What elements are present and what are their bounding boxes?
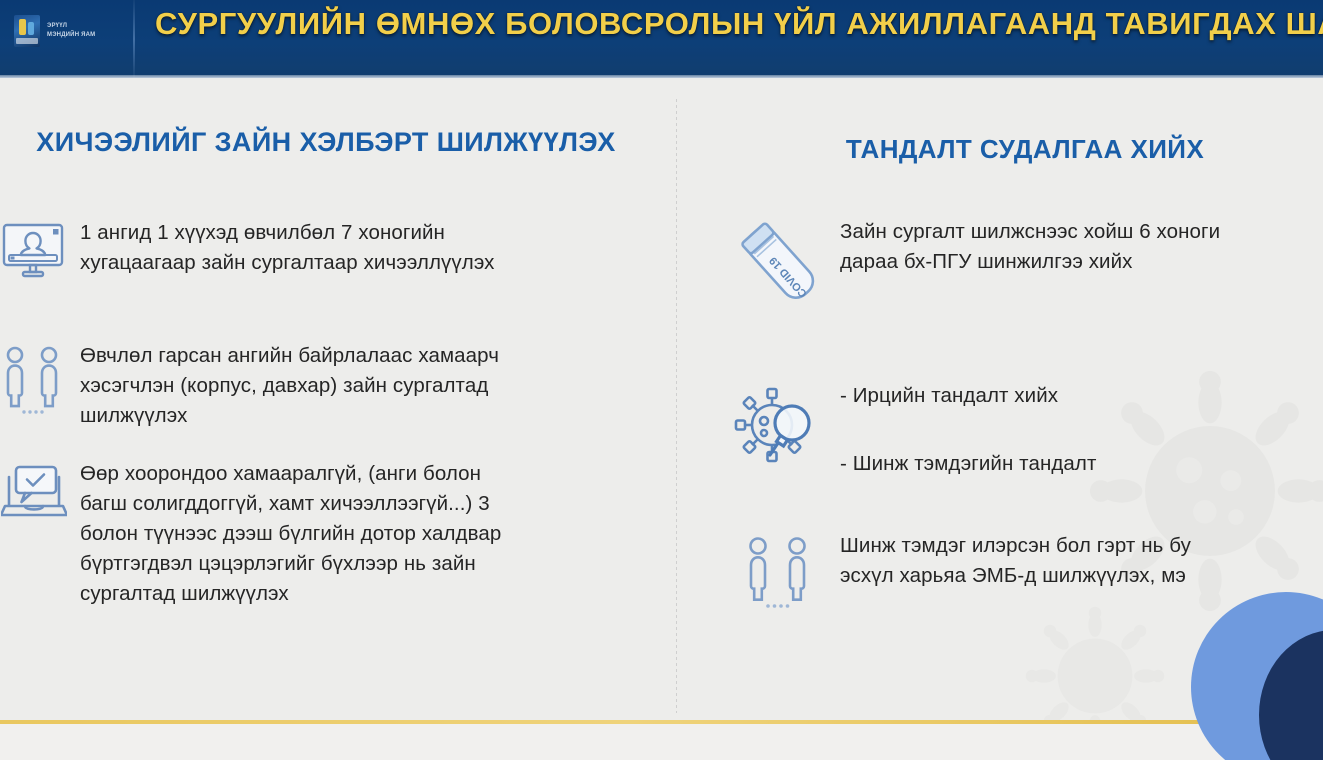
covid-test-tube-icon: COVID 19 bbox=[730, 217, 830, 309]
monitor-person-icon bbox=[0, 218, 68, 280]
left-bullet-1-text: 1 ангид 1 хүүхэд өвчилбөл 7 хоногийн хуг… bbox=[80, 218, 495, 278]
right-column-heading: ТАНДАЛТ СУДАЛГАА ХИЙХ bbox=[760, 131, 1290, 167]
ministry-logo-line1: ЭРҮҮЛ bbox=[47, 22, 95, 31]
laptop-checkmark-icon bbox=[0, 459, 68, 525]
ministry-logo: ЭРҮҮЛ МЭНДИЙН ЯАМ bbox=[14, 8, 124, 54]
left-bullet-3-text: Өөр хоорондоо хамааралгүй, (анги болон б… bbox=[80, 459, 501, 609]
bottom-strip bbox=[0, 724, 1323, 760]
right-bullet-2-sublist: - Ирцийн тандалт хийх - Шинж тэмдэгийн т… bbox=[840, 371, 1096, 479]
slide-body: ХИЧЭЭЛИЙГ ЗАЙН ХЭЛБЭРТ ШИЛЖҮҮЛЭХ 1 ангид… bbox=[0, 81, 1323, 760]
right-bullet-3: Шинж тэмдэг илэрсэн бол гэрт нь бу эсхүл… bbox=[730, 531, 1323, 613]
ministry-of-health-emblem-icon bbox=[14, 15, 40, 47]
ministry-logo-text: ЭРҮҮЛ МЭНДИЙН ЯАМ bbox=[47, 22, 95, 39]
virus-magnifier-icon bbox=[730, 371, 830, 473]
right-bullet-2-subitem-2: - Шинж тэмдэгийн тандалт bbox=[840, 449, 1096, 479]
slide-header-bar: ЭРҮҮЛ МЭНДИЙН ЯАМ СУРГУУЛИЙН ӨМНӨХ БОЛОВ… bbox=[0, 0, 1323, 78]
left-bullet-1: 1 ангид 1 хүүхэд өвчилбөл 7 хоногийн хуг… bbox=[0, 218, 700, 280]
two-people-distancing-icon bbox=[0, 341, 68, 419]
right-bullet-1: COVID 19 Зайн сургалт шилжснээс хойш 6 х… bbox=[730, 217, 1323, 309]
page-title: СУРГУУЛИЙН ӨМНӨХ БОЛОВСРОЛЫН ҮЙЛ АЖИЛЛАГ… bbox=[155, 2, 1323, 46]
right-bullet-2-subitem-1: - Ирцийн тандалт хийх bbox=[840, 381, 1096, 411]
left-bullet-2-text: Өвчлөл гарсан ангийн байрлалаас хамаарч … bbox=[80, 341, 499, 431]
ministry-logo-line2: МЭНДИЙН ЯАМ bbox=[47, 31, 95, 40]
right-bullet-2: - Ирцийн тандалт хийх - Шинж тэмдэгийн т… bbox=[730, 371, 1323, 479]
right-bullet-1-text: Зайн сургалт шилжснээс хойш 6 хоноги дар… bbox=[840, 217, 1220, 277]
header-vertical-divider bbox=[133, 0, 135, 78]
left-bullet-3: Өөр хоорондоо хамааралгүй, (анги болон б… bbox=[0, 459, 700, 609]
right-bullet-3-text: Шинж тэмдэг илэрсэн бол гэрт нь бу эсхүл… bbox=[840, 531, 1191, 591]
left-bullet-2: Өвчлөл гарсан ангийн байрлалаас хамаарч … bbox=[0, 341, 700, 431]
left-column-heading: ХИЧЭЭЛИЙГ ЗАЙН ХЭЛБЭРТ ШИЛЖҮҮЛЭХ bbox=[16, 124, 636, 160]
two-people-distancing-icon bbox=[730, 531, 830, 613]
slide-root: ЭРҮҮЛ МЭНДИЙН ЯАМ СУРГУУЛИЙН ӨМНӨХ БОЛОВ… bbox=[0, 0, 1323, 760]
